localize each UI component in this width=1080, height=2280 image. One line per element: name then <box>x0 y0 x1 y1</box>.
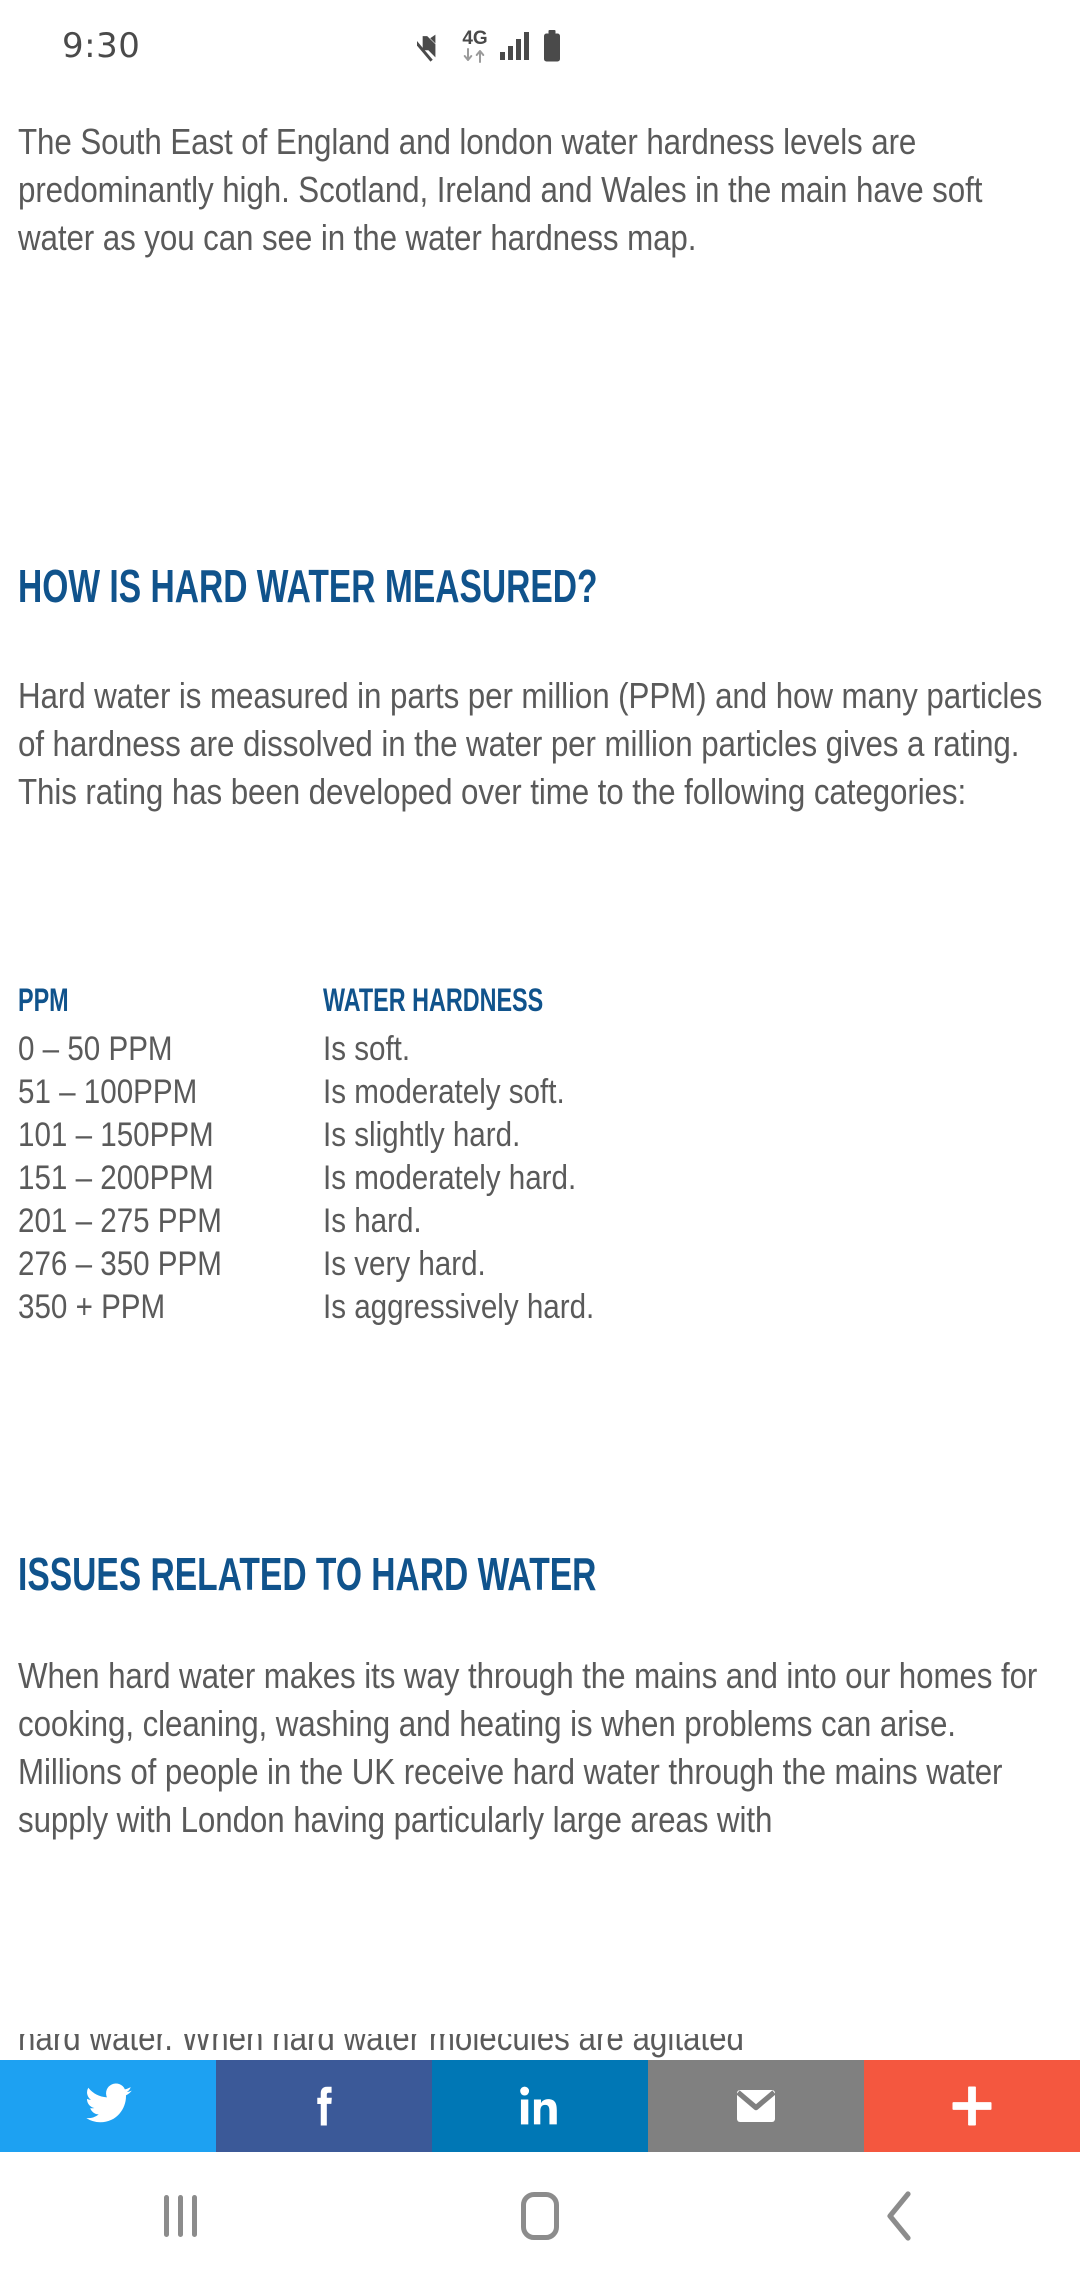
cutoff-bottom-text: hard water. When hard water molecules ar… <box>18 2034 923 2060</box>
recents-button[interactable] <box>80 2152 280 2280</box>
plus-icon <box>946 2080 998 2132</box>
cell-ppm: 151 – 200PPM <box>18 1157 323 1200</box>
table-row: 276 – 350 PPM Is very hard. <box>18 1243 1062 1286</box>
table-header-ppm: PPM <box>18 972 323 1028</box>
home-icon <box>521 2192 559 2240</box>
cell-hardness: Is moderately soft. <box>323 1071 1062 1114</box>
twitter-icon <box>82 2080 134 2132</box>
table-row: 0 – 50 PPM Is soft. <box>18 1028 1062 1071</box>
cell-hardness: Is hard. <box>323 1200 1062 1243</box>
cell-ppm: 0 – 50 PPM <box>18 1028 323 1071</box>
cell-hardness: Is soft. <box>323 1028 1062 1071</box>
cell-hardness: Is moderately hard. <box>323 1157 1062 1200</box>
email-icon <box>732 2082 780 2130</box>
table-header-water-hardness: WATER HARDNESS <box>323 972 1062 1028</box>
table-row: 151 – 200PPM Is moderately hard. <box>18 1157 1062 1200</box>
table-header-row: PPM WATER HARDNESS <box>18 972 1062 1028</box>
share-twitter-button[interactable] <box>0 2060 216 2152</box>
status-icons: 4G <box>417 29 562 63</box>
cell-ppm: 276 – 350 PPM <box>18 1243 323 1286</box>
heading-issues-related-to-hard-water: ISSUES RELATED TO HARD WATER <box>18 1548 1062 1600</box>
home-button[interactable] <box>440 2152 640 2280</box>
table-row: 350 + PPM Is aggressively hard. <box>18 1286 1062 1329</box>
share-linkedin-button[interactable] <box>432 2060 648 2152</box>
heading-how-is-hard-water-measured: HOW IS HARD WATER MEASURED? <box>18 560 1062 612</box>
cell-ppm: 51 – 100PPM <box>18 1071 323 1114</box>
share-more-button[interactable] <box>864 2060 1080 2152</box>
signal-bars-icon <box>499 31 531 61</box>
cutoff-bottom-line: hard water. When hard water molecules ar… <box>18 2034 1058 2060</box>
ppm-hardness-table: PPM WATER HARDNESS 0 – 50 PPM Is soft. 5… <box>18 972 1062 1329</box>
mute-icon <box>417 29 451 63</box>
battery-icon <box>542 30 562 62</box>
android-nav-bar[interactable] <box>0 2152 1080 2280</box>
cell-hardness: Is slightly hard. <box>323 1114 1062 1157</box>
table-row: 51 – 100PPM Is moderately soft. <box>18 1071 1062 1114</box>
recents-icon <box>164 2195 197 2237</box>
linkedin-icon <box>514 2080 566 2132</box>
cell-hardness: Is very hard. <box>323 1243 1062 1286</box>
share-email-button[interactable] <box>648 2060 864 2152</box>
status-clock: 9:30 <box>62 26 140 66</box>
share-bar[interactable] <box>0 2060 1080 2152</box>
paragraph-2: Hard water is measured in parts per mill… <box>18 672 1063 816</box>
paragraph-3: When hard water makes its way through th… <box>18 1652 1063 1844</box>
share-facebook-button[interactable] <box>216 2060 432 2152</box>
cell-ppm: 350 + PPM <box>18 1286 323 1329</box>
cell-ppm: 101 – 150PPM <box>18 1114 323 1157</box>
table-row: 201 – 275 PPM Is hard. <box>18 1200 1062 1243</box>
back-chevron-icon <box>875 2188 925 2244</box>
network-4g-icon: 4G <box>462 29 488 63</box>
paragraph-1: The South East of England and london wat… <box>18 118 1063 262</box>
facebook-icon <box>298 2080 350 2132</box>
status-bar: 9:30 4G <box>0 0 1080 92</box>
back-button[interactable] <box>800 2152 1000 2280</box>
data-arrows-icon <box>462 48 488 63</box>
table-row: 101 – 150PPM Is slightly hard. <box>18 1114 1062 1157</box>
phone-screen: so stays soft. The South East of England… <box>0 0 1080 2280</box>
webpage-content[interactable]: so stays soft. The South East of England… <box>0 0 1080 2060</box>
cell-ppm: 201 – 275 PPM <box>18 1200 323 1243</box>
cell-hardness: Is aggressively hard. <box>323 1286 1062 1329</box>
network-4g-label: 4G <box>462 29 487 48</box>
